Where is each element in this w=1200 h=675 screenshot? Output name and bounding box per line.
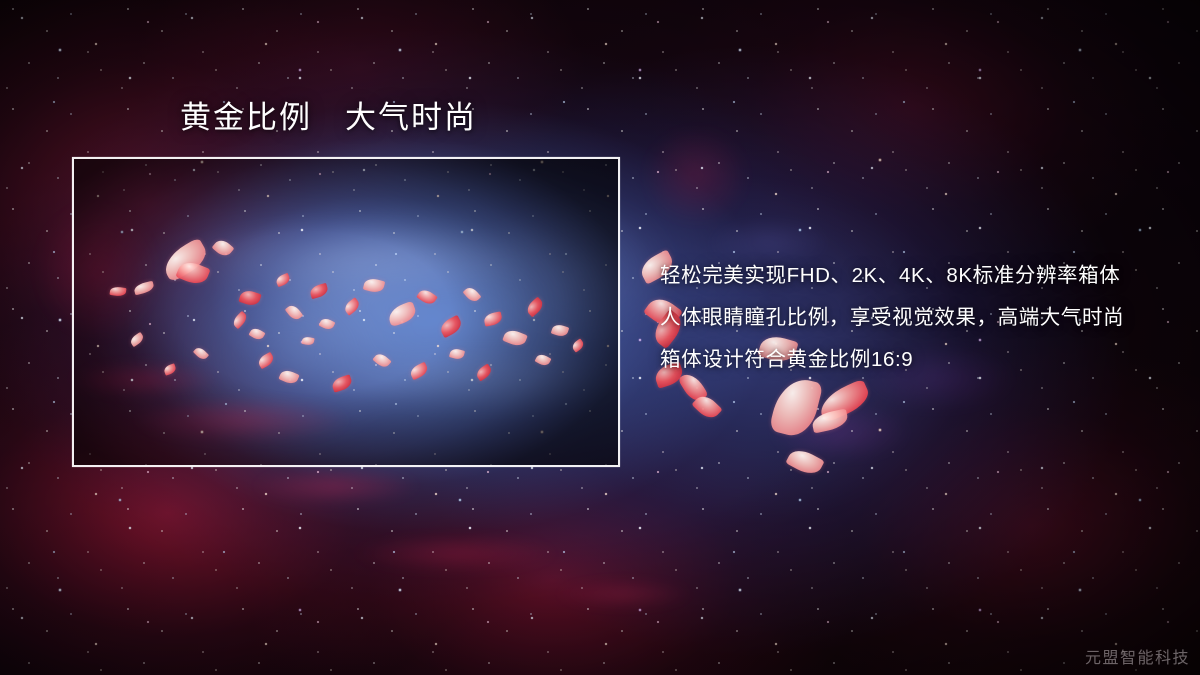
body-line-2: 人体眼睛瞳孔比例，享受视觉效果，高端大气时尚 [660,297,1150,339]
picture-frame [72,157,620,467]
body-copy: 轻松完美实现FHD、2K、4K、8K标准分辨率箱体 人体眼睛瞳孔比例，享受视觉效… [660,255,1150,381]
petal [769,374,824,440]
petal [815,379,873,424]
petal [785,445,824,479]
watermark: 元盟智能科技 [1085,644,1190,668]
picture-frame-content [74,159,618,465]
presentation-slide: 黄金比例 大气时尚 轻松完美实现FHD、2K、4K、8K标准分辨率箱体 人体眼睛… [0,0,1200,675]
page-title: 黄金比例 大气时尚 [180,100,477,136]
body-line-1: 轻松完美实现FHD、2K、4K、8K标准分辨率箱体 [660,255,1150,297]
body-line-3: 箱体设计符合黄金比例16:9 [660,339,1150,381]
petal [691,391,722,422]
petal [811,408,850,433]
